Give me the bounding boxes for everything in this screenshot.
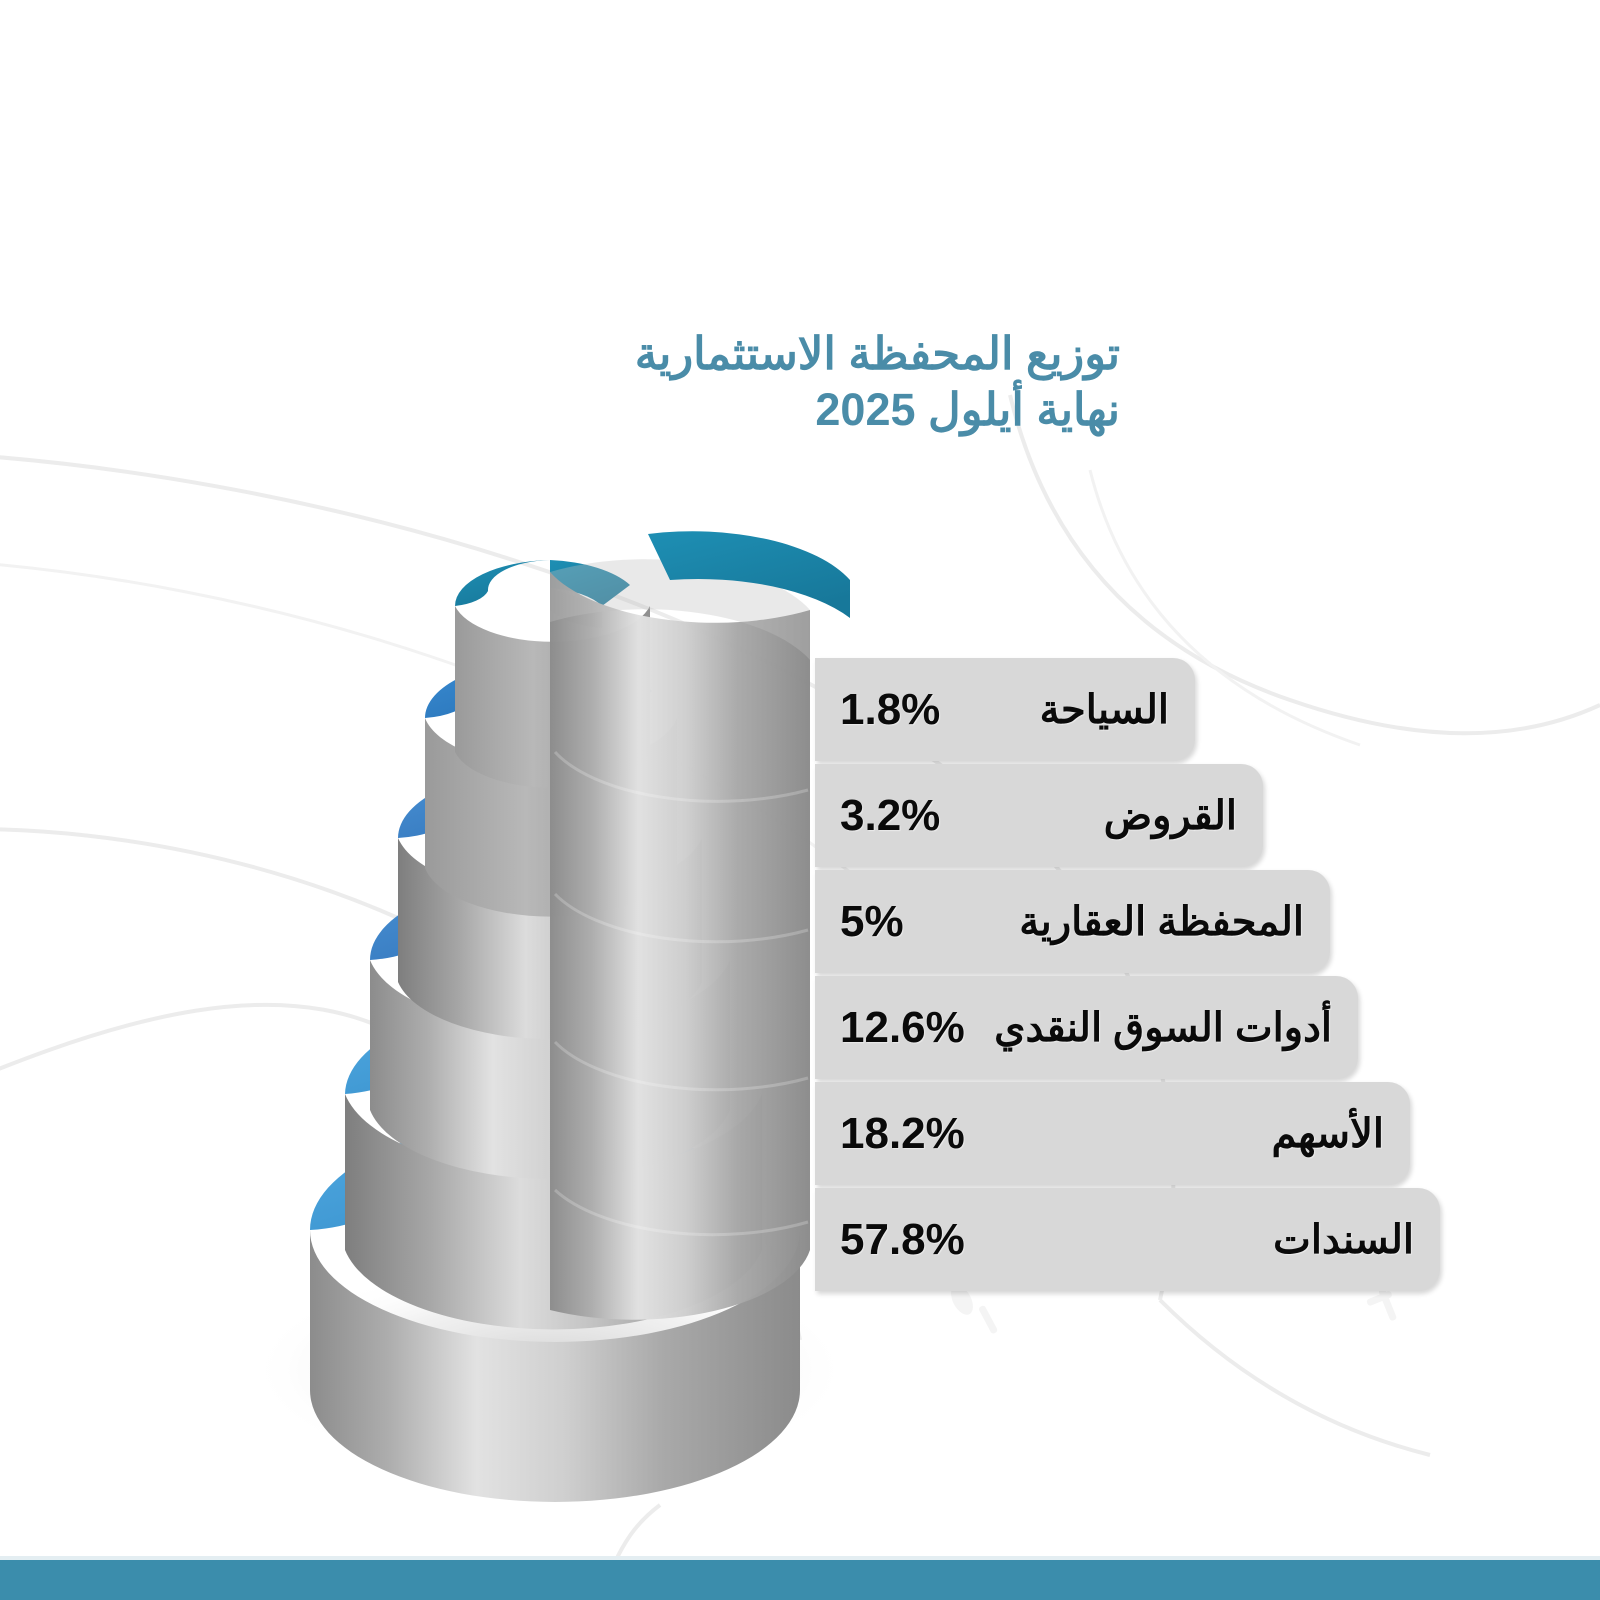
legend-label: القروض [1104, 793, 1237, 839]
legend-percent: 18.2% [840, 1109, 965, 1159]
chart-legend: 1.8% السياحة 3.2% القروض 5% المحفظة العق… [815, 658, 1440, 1294]
legend-label: الأسهم [1272, 1111, 1385, 1157]
legend-label: السندات [1273, 1217, 1414, 1263]
legend-row-loans[interactable]: 3.2% القروض [815, 764, 1263, 867]
legend-row-money-market[interactable]: 12.6% أدوات السوق النقدي [815, 976, 1358, 1079]
legend-row-equities[interactable]: 18.2% الأسهم [815, 1082, 1410, 1185]
legend-label: المحفظة العقارية [1019, 899, 1304, 945]
legend-label: أدوات السوق النقدي [994, 1005, 1332, 1051]
legend-percent: 12.6% [840, 1003, 965, 1053]
legend-row-real-estate[interactable]: 5% المحفظة العقارية [815, 870, 1330, 973]
footer-accent-bar [0, 1560, 1600, 1600]
portfolio-3d-cylinder-chart [250, 490, 870, 1490]
page-title: توزيع المحفظة الاستثمارية نهاية أيلول 20… [0, 326, 1130, 438]
central-cylinder-column [550, 559, 810, 1319]
legend-percent: 1.8% [840, 685, 940, 735]
title-line-2: نهاية أيلول 2025 [0, 382, 1120, 438]
title-line-1: توزيع المحفظة الاستثمارية [0, 326, 1120, 382]
legend-percent: 57.8% [840, 1215, 965, 1265]
legend-label: السياحة [1040, 687, 1169, 733]
legend-percent: 3.2% [840, 791, 940, 841]
legend-row-tourism[interactable]: 1.8% السياحة [815, 658, 1195, 761]
legend-percent: 5% [840, 897, 904, 947]
legend-row-bonds[interactable]: 57.8% السندات [815, 1188, 1440, 1291]
